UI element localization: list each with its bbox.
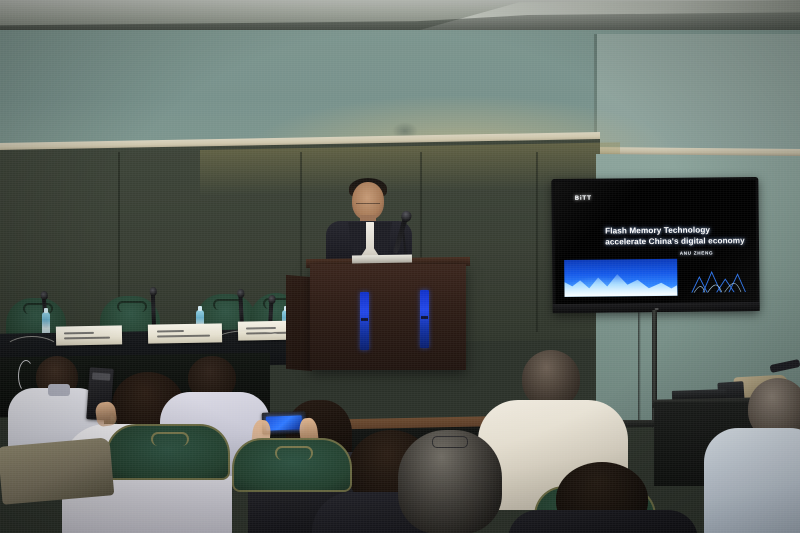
wall-panel-seam — [536, 152, 538, 332]
name-placard — [56, 325, 122, 345]
display-stand-pole-secondary — [638, 312, 641, 422]
slide-logo: BiTT — [575, 195, 592, 202]
mic-cable — [214, 330, 286, 352]
conference-photo: BiTT Flash Memory Technology accelerate … — [0, 0, 800, 533]
slide-presenter-name: ANU ZHENG — [680, 251, 714, 256]
slide-peaks-graphic — [690, 268, 747, 293]
slide: BiTT Flash Memory Technology accelerate … — [554, 180, 756, 304]
audience-chair — [106, 424, 230, 480]
audience-chair — [232, 438, 352, 492]
display-bezel: BiTT Flash Memory Technology accelerate … — [554, 180, 756, 304]
attendee-collar — [48, 384, 70, 396]
attendee-bag — [0, 437, 114, 505]
presentation-display: BiTT Flash Memory Technology accelerate … — [551, 177, 759, 313]
earphone-cable — [18, 360, 34, 392]
podium — [310, 264, 466, 370]
podium-accent-light — [360, 292, 369, 350]
speaker-glasses — [356, 198, 380, 204]
phone-screen — [266, 415, 302, 430]
slide-title: Flash Memory Technology accelerate China… — [605, 224, 746, 247]
podium-side-panel — [286, 275, 312, 371]
attendee-torso — [704, 428, 800, 533]
attendee-torso — [508, 510, 698, 533]
name-placard — [148, 323, 222, 343]
podium-accent-light — [420, 290, 429, 348]
eyeglasses-icon — [432, 436, 468, 448]
camera-detail — [92, 372, 110, 380]
speaker-notes-paper — [352, 254, 412, 263]
slide-title-line-2: accelerate China's digital economy — [605, 235, 746, 247]
